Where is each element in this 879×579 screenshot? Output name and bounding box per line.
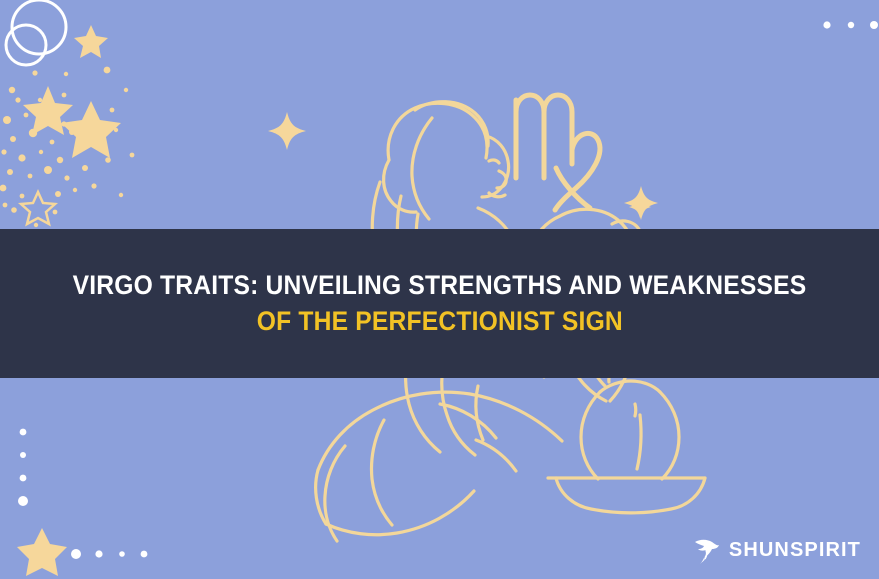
brand-logo[interactable]: SHUNSPIRIT [692, 535, 861, 565]
title-line-1: VIRGO TRAITS: UNVEILING STRENGTHS AND WE… [73, 271, 807, 301]
bird-icon [692, 535, 722, 565]
virgo-symbol-icon [516, 95, 600, 210]
title-line-2: OF THE PERFECTIONIST SIGN [256, 307, 622, 337]
poster-canvas: VIRGO TRAITS: UNVEILING STRENGTHS AND WE… [0, 0, 879, 579]
title-block: VIRGO TRAITS: UNVEILING STRENGTHS AND WE… [0, 229, 879, 378]
brand-wordmark: SHUNSPIRIT [729, 539, 861, 562]
